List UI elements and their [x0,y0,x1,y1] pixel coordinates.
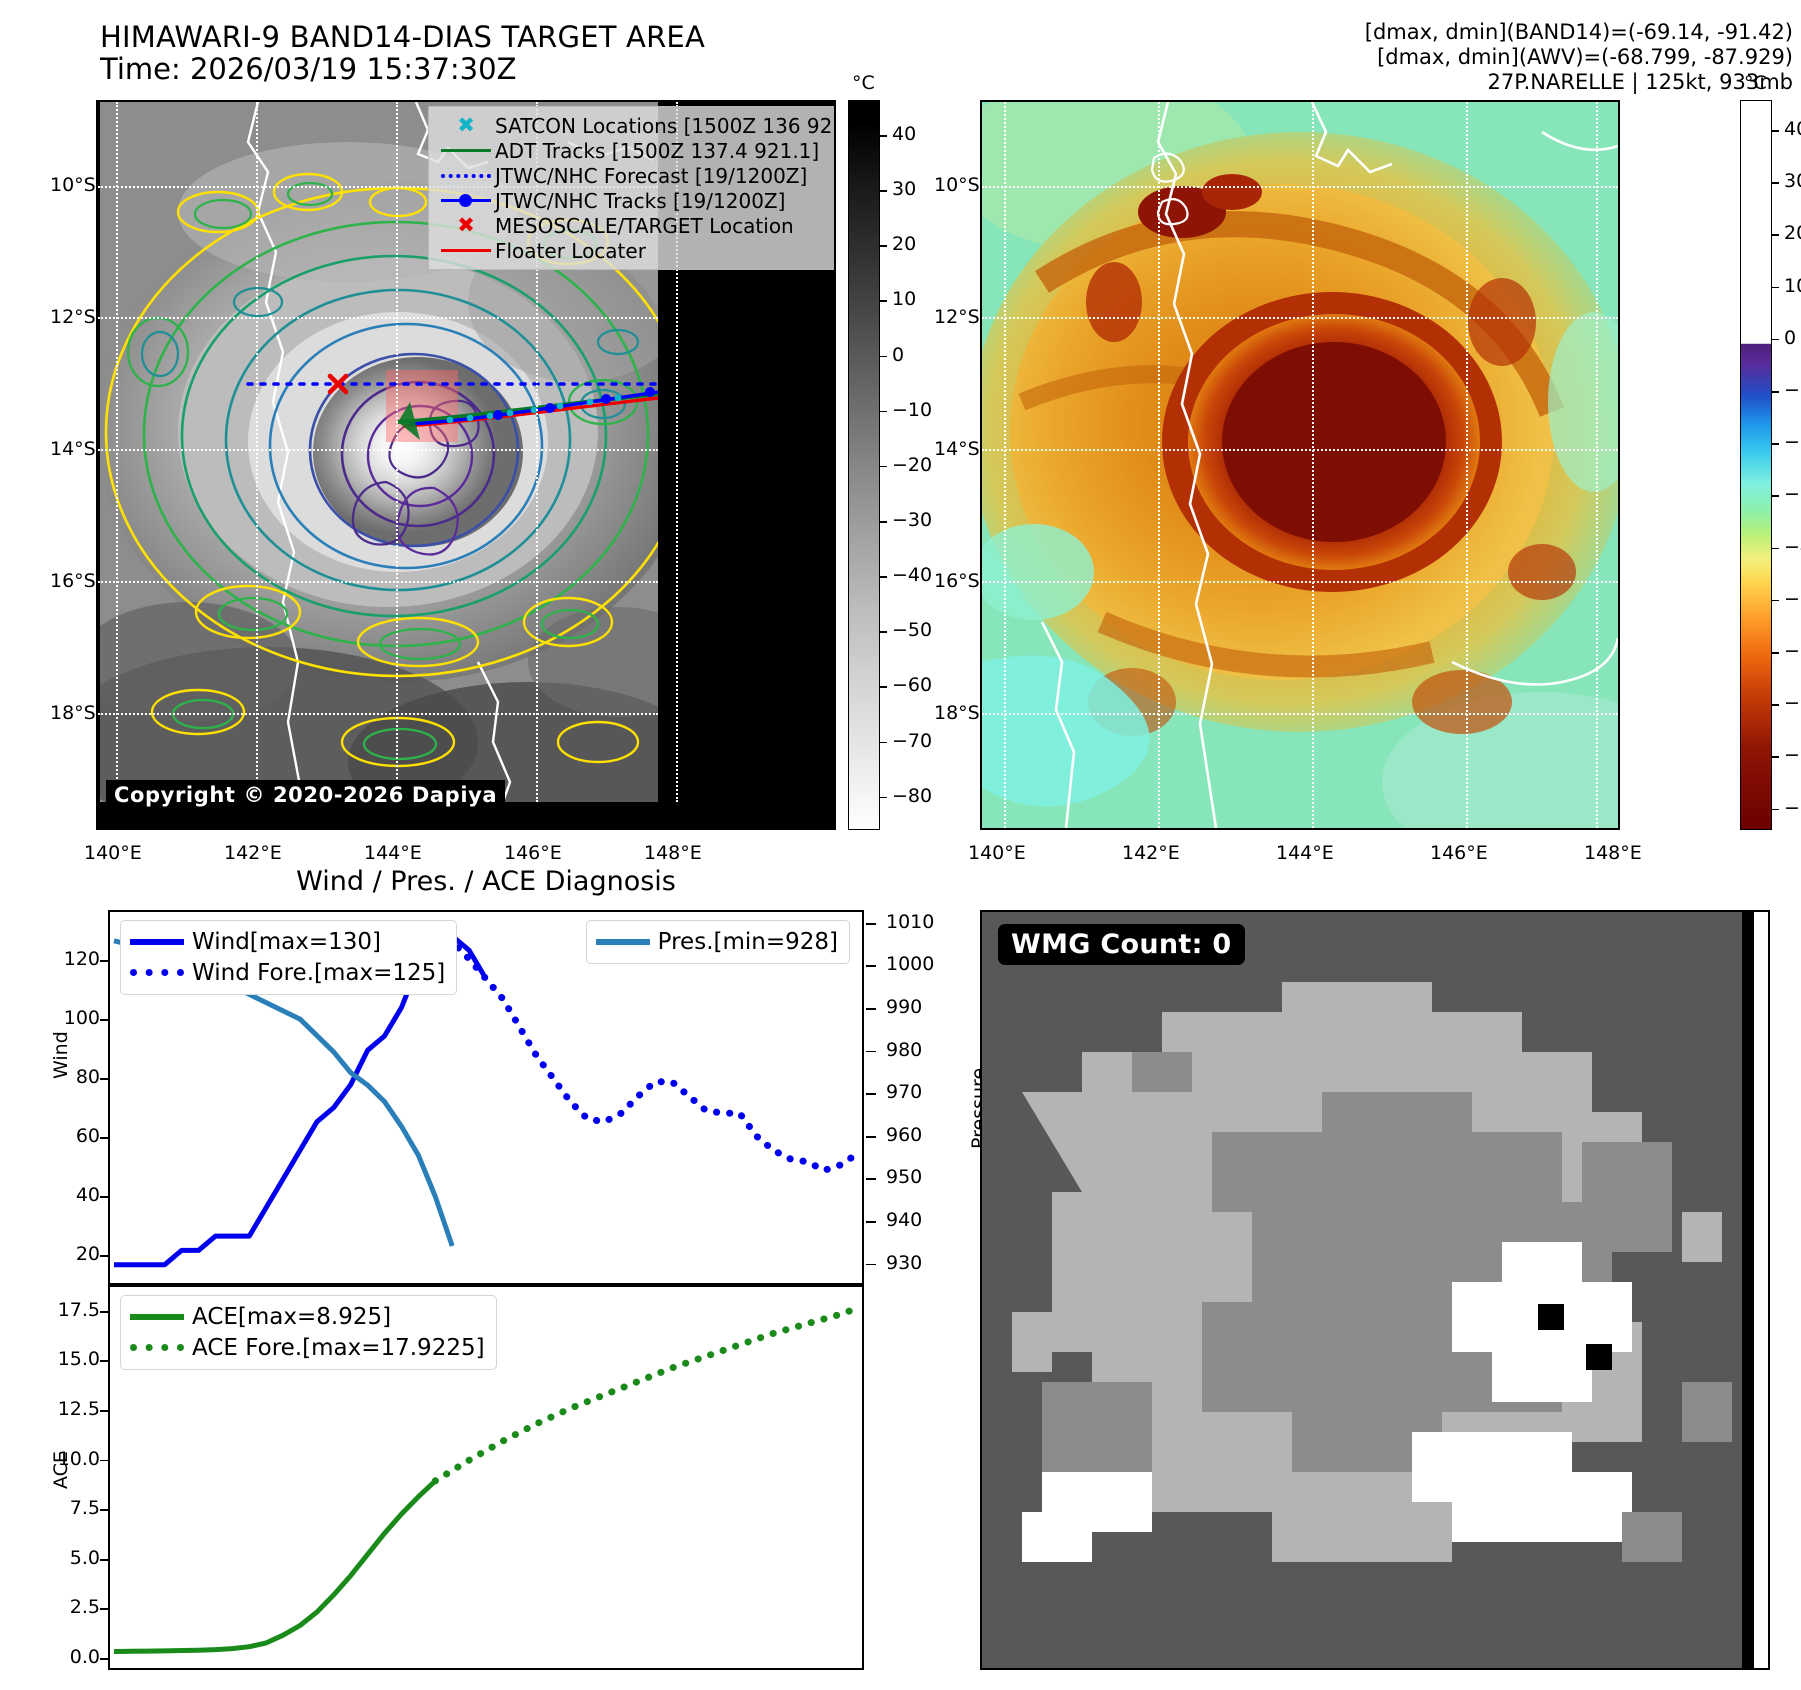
colorbar-tick-label: −30 [892,509,932,531]
axis-tick-label: 120 [30,948,100,970]
lat-tick-14s-right: 14°S [934,438,980,460]
legend-item-satcon: ✖ SATCON Locations [1500Z 136 925] [437,113,836,138]
colorbar-tick-label: −40 [1784,536,1801,558]
colorbar-tickmark [1772,339,1779,341]
track-line-marker-icon [437,199,495,203]
legend-item-floater: Floater Locater [437,238,836,263]
axis-tickmark [100,1196,110,1198]
colorbar-tickmark [880,356,887,358]
colorbar-tick-label: 20 [892,233,916,255]
colorbar-tick-label: −60 [1784,640,1801,662]
colorbar-tickmark [880,631,887,633]
legend-label: ACE[max=8.925] [192,1304,391,1330]
legend-label: Wind Fore.[max=125] [192,960,445,986]
legend-label: Wind[max=130] [192,929,381,955]
pressure-legend: Pres.[min=928] [586,920,850,964]
colorbar-tickmark [1772,704,1779,706]
axis-tick-label: 970 [886,1081,922,1103]
lat-tick-16s: 16°S [50,570,96,592]
wind-line-icon [130,939,192,945]
colorbar-left [848,100,880,830]
colorbar-right [1740,100,1772,830]
lat-tick-18s: 18°S [50,702,96,724]
wind-pressure-chart[interactable]: Wind[max=130] Wind Fore.[max=125] Pres.[… [108,910,864,1285]
legend-item-adt: ADT Tracks [1500Z 137.4 921.1] [437,138,836,163]
colorbar-tickmark [1772,548,1779,550]
axis-tickmark [866,1178,876,1180]
colorbar-tick-label: −90 [1784,797,1801,819]
colorbar-tick-label: −80 [892,785,932,807]
axis-tick-label: 940 [886,1209,922,1231]
lon-tick-140e-right: 140°E [968,842,1026,864]
colorbar-tick-label: −50 [892,619,932,641]
colorbar-tickmark [880,576,887,578]
axis-tickmark [100,1410,110,1412]
ir-grey-map-panel[interactable]: ✖ SATCON Locations [1500Z 136 925] ADT T… [96,100,836,830]
axis-tickmark [866,1264,876,1266]
series-ace-fore- [435,1308,858,1481]
legend-label: MESOSCALE/TARGET Location [495,214,794,238]
floater-line-icon [437,249,495,253]
header-info-awv: [dmax, dmin](AWV)=(-68.799, -87.929) [1377,44,1793,71]
legend-item-jtwc-forecast: JTWC/NHC Forecast [19/1200Z] [437,163,836,188]
axis-tickmark [866,1093,876,1095]
colorbar-left-title: °C [852,72,875,94]
colorbar-tick-label: −10 [892,399,932,421]
lon-tick-144e-right: 144°E [1276,842,1334,864]
legend-item-pressure: Pres.[min=928] [596,926,838,957]
lon-tick-148e-right: 148°E [1584,842,1642,864]
colorbar-tickmark [880,521,887,523]
axis-tick-label: 960 [886,1124,922,1146]
page-subtitle-time: Time: 2026/03/19 15:37:30Z [100,52,516,86]
colorbar-right-title: °C [1744,72,1767,94]
lat-tick-12s-right: 12°S [934,306,980,328]
colorbar-tickmark [1772,287,1779,289]
colorbar-tickmark [1772,495,1779,497]
axis-tickmark [100,1255,110,1257]
colorbar-tickmark [880,466,887,468]
axis-tickmark [100,1608,110,1610]
axis-tick-label: 12.5 [30,1398,100,1420]
legend-label: JTWC/NHC Forecast [19/1200Z] [495,164,807,188]
ace-forecast-dotted-icon [130,1344,192,1351]
colorbar-tick-label: −60 [892,674,932,696]
colorbar-tick-label: 40 [892,123,916,145]
colorbar-tickmark [1772,756,1779,758]
legend-label: Pres.[min=928] [658,929,838,955]
colorbar-tickmark [1772,234,1779,236]
wmg-count-badge: WMG Count: 0 [998,924,1245,965]
colorbar-tick-label: −70 [892,730,932,752]
ace-legend: ACE[max=8.925] ACE Fore.[max=17.9225] [120,1295,497,1370]
colorbar-tickmark [1772,443,1779,445]
legend-item-ace-forecast: ACE Fore.[max=17.9225] [130,1332,485,1363]
ace-line-icon [130,1314,192,1320]
axis-tick-label: 990 [886,996,922,1018]
axis-tickmark [100,1078,110,1080]
legend-item-mesoscale: ✖ MESOSCALE/TARGET Location [437,213,836,238]
dashboard-root: HIMAWARI-9 BAND14-DIAS TARGET AREA Time:… [0,0,1801,1690]
colorbar-tick-label: −20 [1784,431,1801,453]
wind-legend: Wind[max=130] Wind Fore.[max=125] [120,920,457,995]
colorbar-tickmark [1772,182,1779,184]
lon-tick-142e-right: 142°E [1122,842,1180,864]
wind-forecast-dotted-icon [130,969,192,976]
lat-tick-16s-right: 16°S [934,570,980,592]
lon-tick-144e: 144°E [364,842,422,864]
axis-tickmark [866,1136,876,1138]
axis-tick-label: 1000 [886,953,934,975]
ace-axis-label: ACE [30,1470,88,1530]
series-ace [114,1481,435,1652]
colorbar-tick-label: −20 [892,454,932,476]
legend-label: ACE Fore.[max=17.9225] [192,1335,485,1361]
colorbar-tick-label: 0 [892,344,904,366]
axis-tickmark [100,1311,110,1313]
ir-grey-map-image: ✖ SATCON Locations [1500Z 136 925] ADT T… [98,102,834,828]
axis-tick-label: 60 [30,1125,100,1147]
page-title: HIMAWARI-9 BAND14-DIAS TARGET AREA [100,20,705,54]
colorbar-tick-label: 40 [1784,118,1801,140]
charts-suptitle: Wind / Pres. / ACE Diagnosis [296,866,676,897]
colorbar-tickmark [880,135,887,137]
lon-tick-140e: 140°E [84,842,142,864]
pressure-line-icon [596,939,658,945]
axis-tick-label: 980 [886,1039,922,1061]
colorbar-tick-label: −40 [892,564,932,586]
satcon-marker-icon: ✖ [437,115,495,136]
colorbar-tickmark [880,300,887,302]
axis-tickmark [100,1360,110,1362]
colorbar-tick-label: 0 [1784,327,1796,349]
adt-line-icon [437,149,495,153]
axis-tickmark [866,1008,876,1010]
legend-label: Floater Locater [495,239,646,263]
axis-tick-label: 40 [30,1184,100,1206]
axis-tickmark [100,1559,110,1561]
colorbar-tickmark [880,742,887,744]
colorbar-tick-label: 10 [892,288,916,310]
axis-tickmark [100,1509,110,1511]
lat-tick-14s: 14°S [50,438,96,460]
colorbar-tick-label: 10 [1784,275,1801,297]
axis-tick-label: 2.5 [30,1596,100,1618]
wind-axis-label: Wind [30,1060,98,1120]
wmg-panel[interactable]: WMG Count: 0 [980,910,1770,1670]
colorbar-tick-label: −80 [1784,744,1801,766]
axis-tickmark [866,1221,876,1223]
axis-tickmark [866,923,876,925]
colorbar-tickmark [880,411,887,413]
axis-tick-label: 1010 [886,911,934,933]
colorbar-tickmark [880,245,887,247]
axis-tick-label: 0.0 [30,1646,100,1668]
colorbar-tickmark [1772,600,1779,602]
axis-tick-label: 5.0 [30,1547,100,1569]
colorbar-tick-label: −10 [1784,379,1801,401]
axis-tickmark [100,1019,110,1021]
ir-enhanced-map-panel[interactable] [980,100,1620,830]
mesoscale-marker-icon: ✖ [437,215,495,236]
axis-tick-label: 20 [30,1243,100,1265]
lat-tick-10s-right: 10°S [934,174,980,196]
ir-enhanced-map-image [982,102,1618,828]
lat-tick-12s: 12°S [50,306,96,328]
lon-tick-146e: 146°E [504,842,562,864]
colorbar-tickmark [880,190,887,192]
legend-item-wind-forecast: Wind Fore.[max=125] [130,957,445,988]
colorbar-tickmark [1772,130,1779,132]
copyright-badge: Copyright © 2020-2026 Dapiya [106,780,505,810]
wmg-image [982,912,1768,1668]
legend-label: JTWC/NHC Tracks [19/1200Z] [495,189,785,213]
colorbar-tickmark [1772,652,1779,654]
lon-tick-142e: 142°E [224,842,282,864]
colorbar-tickmark [880,797,887,799]
header-info-band14: [dmax, dmin](BAND14)=(-69.14, -91.42) [1365,19,1793,46]
colorbar-tickmark [1772,809,1779,811]
map-legend: ✖ SATCON Locations [1500Z 136 925] ADT T… [428,106,836,270]
legend-label: ADT Tracks [1500Z 137.4 921.1] [495,139,819,163]
axis-tickmark [100,1658,110,1660]
lat-tick-18s-right: 18°S [934,702,980,724]
colorbar-tick-label: −30 [1784,483,1801,505]
series-wind-fore- [435,936,858,1170]
colorbar-tick-label: 30 [892,178,916,200]
colorbar-tickmark [880,686,887,688]
axis-tick-label: 930 [886,1252,922,1274]
colorbar-tick-label: −50 [1784,588,1801,610]
axis-tickmark [866,1051,876,1053]
axis-tickmark [866,965,876,967]
axis-tickmark [100,1137,110,1139]
ace-chart[interactable]: ACE[max=8.925] ACE Fore.[max=17.9225] [108,1285,864,1670]
lon-tick-146e-right: 146°E [1430,842,1488,864]
axis-tickmark [100,1460,110,1462]
colorbar-tick-label: 30 [1784,170,1801,192]
forecast-dotted-line-icon [437,174,495,178]
legend-label: SATCON Locations [1500Z 136 925] [495,114,836,138]
axis-tick-label: 17.5 [30,1299,100,1321]
axis-tick-label: 950 [886,1166,922,1188]
colorbar-tickmark [1772,391,1779,393]
axis-tick-label: 100 [30,1007,100,1029]
colorbar-tick-label: 20 [1784,222,1801,244]
colorbar-tick-label: −70 [1784,692,1801,714]
lat-tick-10s: 10°S [50,174,96,196]
lon-tick-148e: 148°E [644,842,702,864]
axis-tick-label: 15.0 [30,1348,100,1370]
legend-item-jtwc-tracks: JTWC/NHC Tracks [19/1200Z] [437,188,836,213]
legend-item-ace: ACE[max=8.925] [130,1301,485,1332]
legend-item-wind: Wind[max=130] [130,926,445,957]
axis-tickmark [100,960,110,962]
